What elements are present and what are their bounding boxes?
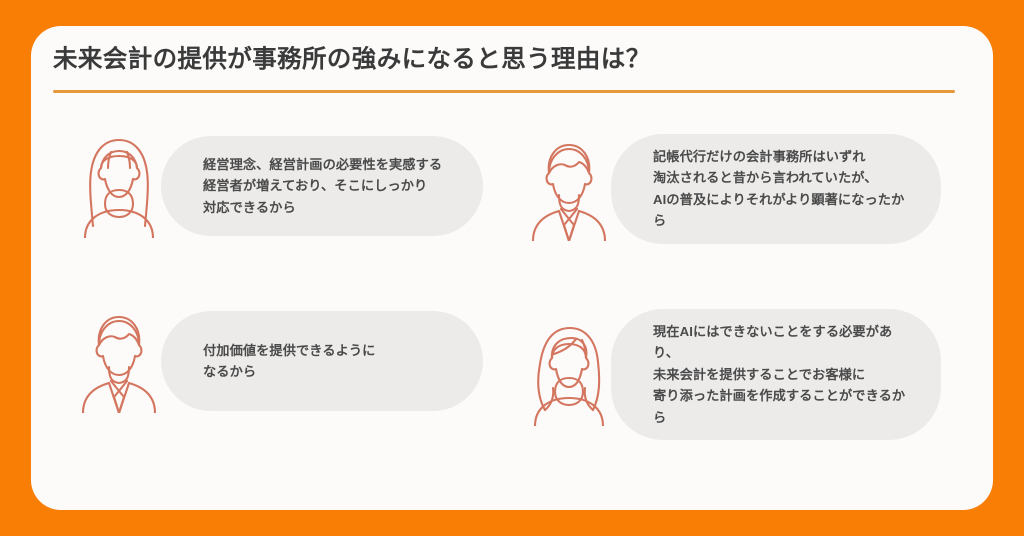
page-title: 未来会計の提供が事務所の強みになると思う理由は？: [53, 44, 963, 76]
reason-item: 記帳代行だけの会計事務所はいずれ 淘汰されると昔から言われていたが、 AIの普及…: [521, 134, 941, 244]
reason-bubble: 現在AIにはできないことをする必要があり、 未来会計を提供することでお客様に 寄…: [611, 309, 941, 440]
reason-list: 経営理念、経営計画の必要性を実感する 経営者が増えており、そこにしっかり 対応で…: [31, 134, 993, 484]
reason-text: 現在AIにはできないことをする必要があり、 未来会計を提供することでお客様に 寄…: [653, 321, 915, 428]
reason-item: 現在AIにはできないことをする必要があり、 未来会計を提供することでお客様に 寄…: [521, 309, 941, 440]
woman-long-hair-avatar-icon: [71, 134, 167, 238]
reason-text: 記帳代行だけの会計事務所はいずれ 淘汰されると昔から言われていたが、 AIの普及…: [653, 146, 915, 232]
reason-row: 付加価値を提供できるように なるから: [31, 309, 993, 484]
slide-root: 未来会計の提供が事務所の強みになると思う理由は？: [0, 0, 1024, 536]
reason-text: 付加価値を提供できるように なるから: [203, 340, 375, 383]
title-block: 未来会計の提供が事務所の強みになると思う理由は？: [53, 44, 963, 93]
woman-wavy-hair-avatar-icon: [521, 322, 617, 426]
reason-bubble: 記帳代行だけの会計事務所はいずれ 淘汰されると昔から言われていたが、 AIの普及…: [611, 134, 941, 244]
reason-bubble: 経営理念、経営計画の必要性を実感する 経営者が増えており、そこにしっかり 対応で…: [161, 136, 483, 236]
reason-item: 経営理念、経営計画の必要性を実感する 経営者が増えており、そこにしっかり 対応で…: [71, 134, 483, 238]
man-suit-avatar-icon: [71, 309, 167, 413]
man-suit-avatar-icon: [521, 137, 617, 241]
reason-row: 経営理念、経営計画の必要性を実感する 経営者が増えており、そこにしっかり 対応で…: [31, 134, 993, 309]
reason-text: 経営理念、経営計画の必要性を実感する 経営者が増えており、そこにしっかり 対応で…: [203, 154, 442, 218]
title-underline-rule: [53, 90, 955, 93]
reason-bubble: 付加価値を提供できるように なるから: [161, 311, 483, 411]
reason-item: 付加価値を提供できるように なるから: [71, 309, 483, 413]
content-card: 未来会計の提供が事務所の強みになると思う理由は？: [31, 26, 993, 510]
